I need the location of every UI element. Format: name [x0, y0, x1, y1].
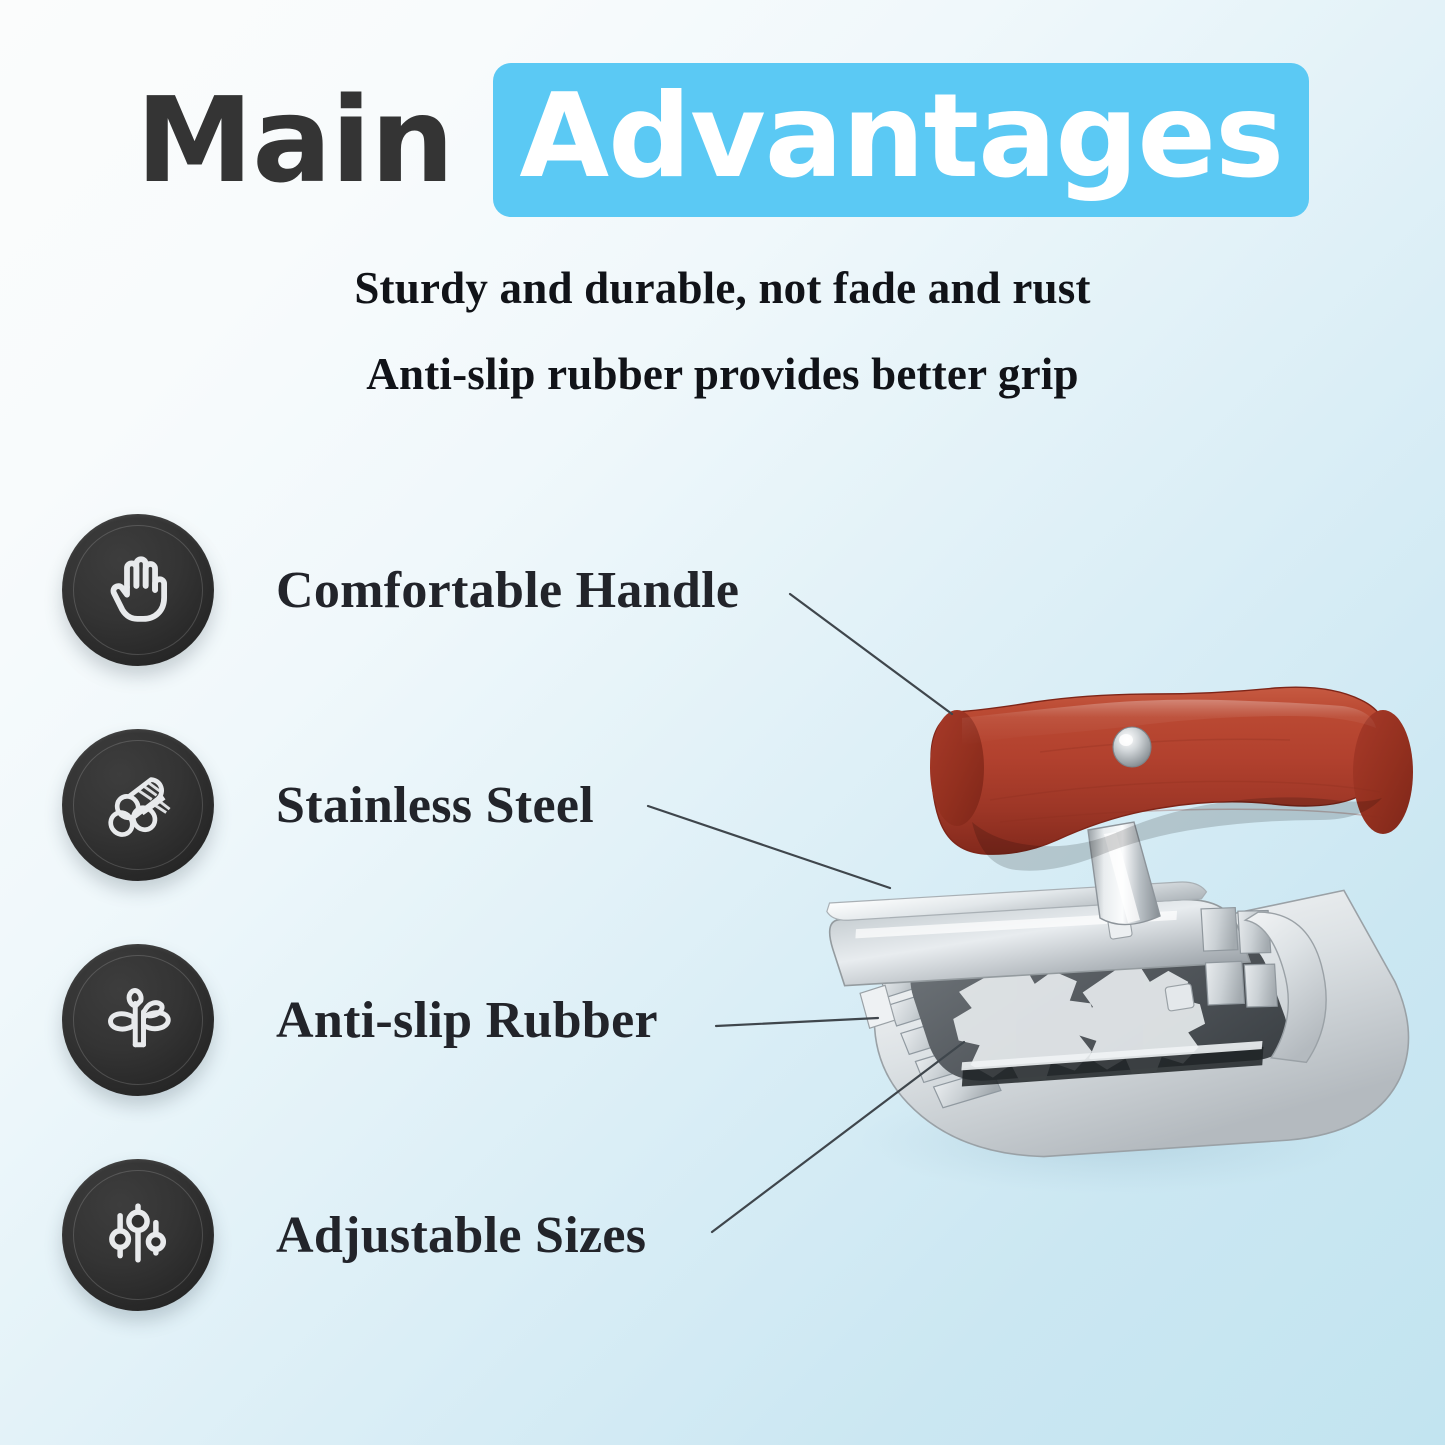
hand-palm-icon: [62, 514, 214, 666]
feature-label-comfortable-handle: Comfortable Handle: [276, 561, 739, 620]
feature-item-anti-slip-rubber[interactable]: Anti-slip Rubber: [62, 944, 658, 1096]
feature-label-anti-slip-rubber: Anti-slip Rubber: [276, 991, 658, 1050]
infographic-page: Main Advantages Sturdy and durable, not …: [0, 0, 1445, 1445]
feature-item-stainless-steel[interactable]: Stainless Steel: [62, 729, 594, 881]
steel-pipes-icon: [62, 729, 214, 881]
rubber-plant-icon: [62, 944, 214, 1096]
feature-item-adjustable-sizes[interactable]: Adjustable Sizes: [62, 1159, 646, 1311]
feature-label-adjustable-sizes: Adjustable Sizes: [276, 1206, 646, 1265]
feature-list: Comfortable Handle: [0, 0, 1445, 1445]
feature-item-comfortable-handle[interactable]: Comfortable Handle: [62, 514, 739, 666]
sliders-adjust-icon: [62, 1159, 214, 1311]
feature-label-stainless-steel: Stainless Steel: [276, 776, 594, 835]
